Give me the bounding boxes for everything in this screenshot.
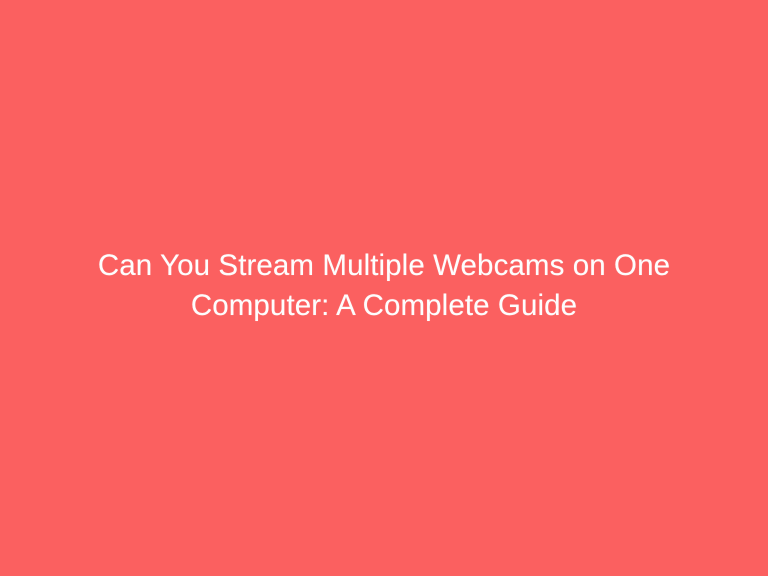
title-block: Can You Stream Multiple Webcams on One C… bbox=[54, 246, 714, 326]
page-title: Can You Stream Multiple Webcams on One C… bbox=[54, 246, 714, 326]
featured-image-card: Can You Stream Multiple Webcams on One C… bbox=[0, 0, 768, 576]
